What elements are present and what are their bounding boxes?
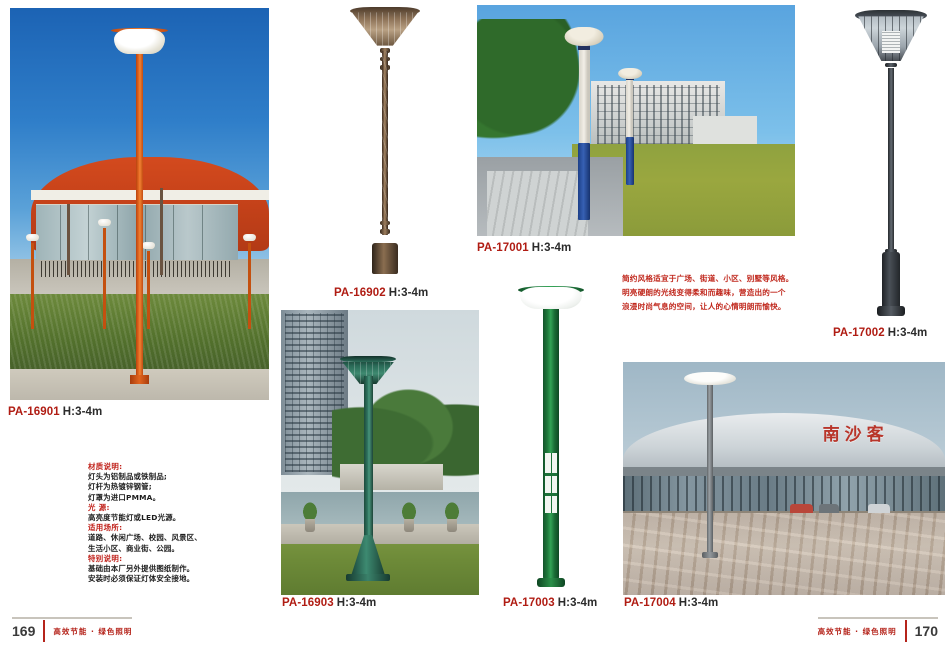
lamp-collar <box>380 229 390 233</box>
product-code: PA-17004 <box>624 597 676 609</box>
building-band <box>31 190 269 199</box>
lamp-near <box>579 44 590 220</box>
planter <box>305 518 315 532</box>
caption-pa-17003: PA-17003H:3-4m <box>503 597 597 609</box>
product-code: PA-17001 <box>477 242 529 254</box>
product-photo-pa-17001 <box>477 5 795 236</box>
lamp-base <box>882 252 900 309</box>
paved-walkway <box>487 171 589 236</box>
lamp-far <box>626 77 633 186</box>
lamp-collar <box>380 221 390 225</box>
spec-material-line: 灯头为铝制品或铁制品; <box>88 472 263 482</box>
spec-source-heading: 光 源: <box>88 503 263 513</box>
spec-material-heading: 材质说明: <box>88 462 263 472</box>
product-photo-pa-17003 <box>498 262 604 592</box>
footer-tagline: 高效节能 · 绿色照明 <box>53 626 132 637</box>
lamp-dome <box>684 372 736 385</box>
spec-usage-heading: 适用场所: <box>88 523 263 533</box>
spec-material-line: 灯罩为进口PMMA。 <box>88 493 263 503</box>
lamp-dish <box>565 27 604 46</box>
blurb-line: 简约风格适宜于广场、街道、小区、别墅等风格。 <box>622 272 826 286</box>
spec-note-line: 安装时必须保证灯体安全接地。 <box>88 574 263 584</box>
lamp-foot <box>702 552 718 558</box>
spec-note-line: 基础由本厂另外提供图纸制作。 <box>88 564 263 574</box>
blurb-line: 浪漫时尚气息的空间，让人的心情明朗而愉快。 <box>622 300 826 314</box>
lamp-foot <box>537 578 565 587</box>
planter <box>447 518 457 532</box>
product-photo-pa-16902 <box>330 4 440 282</box>
caption-pa-16902: PA-16902H:3-4m <box>334 287 428 299</box>
product-photo-pa-17002 <box>836 4 946 322</box>
product-code: PA-16902 <box>334 287 386 299</box>
lamp-pole-blue-section <box>626 137 634 185</box>
spec-usage-line: 生活小区、商业街、公园。 <box>88 544 263 554</box>
product-code: PA-16901 <box>8 406 60 418</box>
lamp-plinth <box>877 306 906 316</box>
lamp-pole <box>136 51 143 384</box>
product-code: PA-17003 <box>503 597 555 609</box>
background-lamp <box>103 228 106 330</box>
caption-pa-16901: PA-16901H:3-4m <box>8 406 102 418</box>
planter <box>404 518 414 532</box>
terminal-glass-facade <box>623 476 945 513</box>
bare-tree <box>67 204 70 275</box>
lamp-pole <box>364 376 373 553</box>
caption-pa-17001: PA-17001H:3-4m <box>477 242 571 254</box>
spec-material-line: 灯杆为热镀锌钢管; <box>88 482 263 492</box>
lamp-foot <box>346 574 390 581</box>
lamp-column <box>543 292 560 579</box>
product-photo-pa-16901 <box>10 8 269 400</box>
page-number-right: 170 <box>915 623 938 639</box>
product-height: H:3-4m <box>389 287 429 299</box>
product-code: PA-16903 <box>282 597 334 609</box>
product-height: H:3-4m <box>63 406 103 418</box>
spec-source-line: 高亮度节能灯或LED光源。 <box>88 513 263 523</box>
product-height: H:3-4m <box>337 597 377 609</box>
lamp-dome <box>114 29 166 54</box>
footer-left: 169 高效节能 · 绿色照明 <box>8 620 136 642</box>
background-lamp <box>31 243 34 329</box>
roof-fascia <box>623 467 945 476</box>
bare-tree <box>160 188 163 274</box>
product-photo-pa-16903 <box>281 310 479 595</box>
lamp-cap <box>340 356 395 363</box>
footer-rule <box>12 617 132 619</box>
footer-divider <box>43 620 45 642</box>
product-code: PA-17002 <box>833 327 885 339</box>
building-sign: 南沙客 <box>823 420 926 443</box>
lamp-pole <box>707 381 713 553</box>
product-height: H:3-4m <box>532 242 572 254</box>
product-height: H:3-4m <box>558 597 598 609</box>
lamp-base <box>372 243 398 274</box>
background-lamp <box>147 251 150 329</box>
lamp-bulb-assembly <box>882 31 900 53</box>
catalog-spread: PA-16901H:3-4m PA-16902H:3-4m <box>0 0 950 654</box>
footer-tagline: 高效节能 · 绿色照明 <box>818 626 897 637</box>
page-number-left: 169 <box>12 623 35 639</box>
pergola <box>340 464 443 490</box>
footer-right: 高效节能 · 绿色照明 170 <box>814 620 942 642</box>
product-height: H:3-4m <box>888 327 928 339</box>
lamp-pole <box>382 51 388 234</box>
lamp-dome <box>520 287 581 309</box>
lamp-collar <box>885 63 897 67</box>
lamp-base <box>130 375 148 384</box>
spec-usage-line: 道路、休闲广场、校园、风景区、 <box>88 533 263 543</box>
caption-pa-16903: PA-16903H:3-4m <box>282 597 376 609</box>
plaza-paving <box>623 513 945 595</box>
lamp-pole-blue-section <box>578 143 590 220</box>
background-lamp <box>248 243 251 329</box>
lamp-plinth <box>365 271 405 279</box>
lamp-window-panel <box>545 453 557 512</box>
lamp-shade <box>352 10 418 46</box>
lamp-dish <box>618 68 642 79</box>
marketing-blurb: 简约风格适宜于广场、街道、小区、别墅等风格。 明亮硬朗的光线变得柔和而趣味，营造… <box>622 272 826 314</box>
product-height: H:3-4m <box>679 597 719 609</box>
spec-note-heading: 特别说明: <box>88 554 263 564</box>
blurb-line: 明亮硬朗的光线变得柔和而趣味，营造出的一个 <box>622 286 826 300</box>
caption-pa-17002: PA-17002H:3-4m <box>833 327 927 339</box>
specification-block: 材质说明: 灯头为铝制品或铁制品; 灯杆为热镀锌钢管; 灯罩为进口PMMA。 光… <box>88 462 263 584</box>
product-photo-pa-17004: 南沙客 <box>623 362 945 595</box>
footer-rule <box>818 617 938 619</box>
caption-pa-17004: PA-17004H:3-4m <box>624 597 718 609</box>
footer-divider <box>905 620 907 642</box>
lamp-pole <box>888 68 895 252</box>
